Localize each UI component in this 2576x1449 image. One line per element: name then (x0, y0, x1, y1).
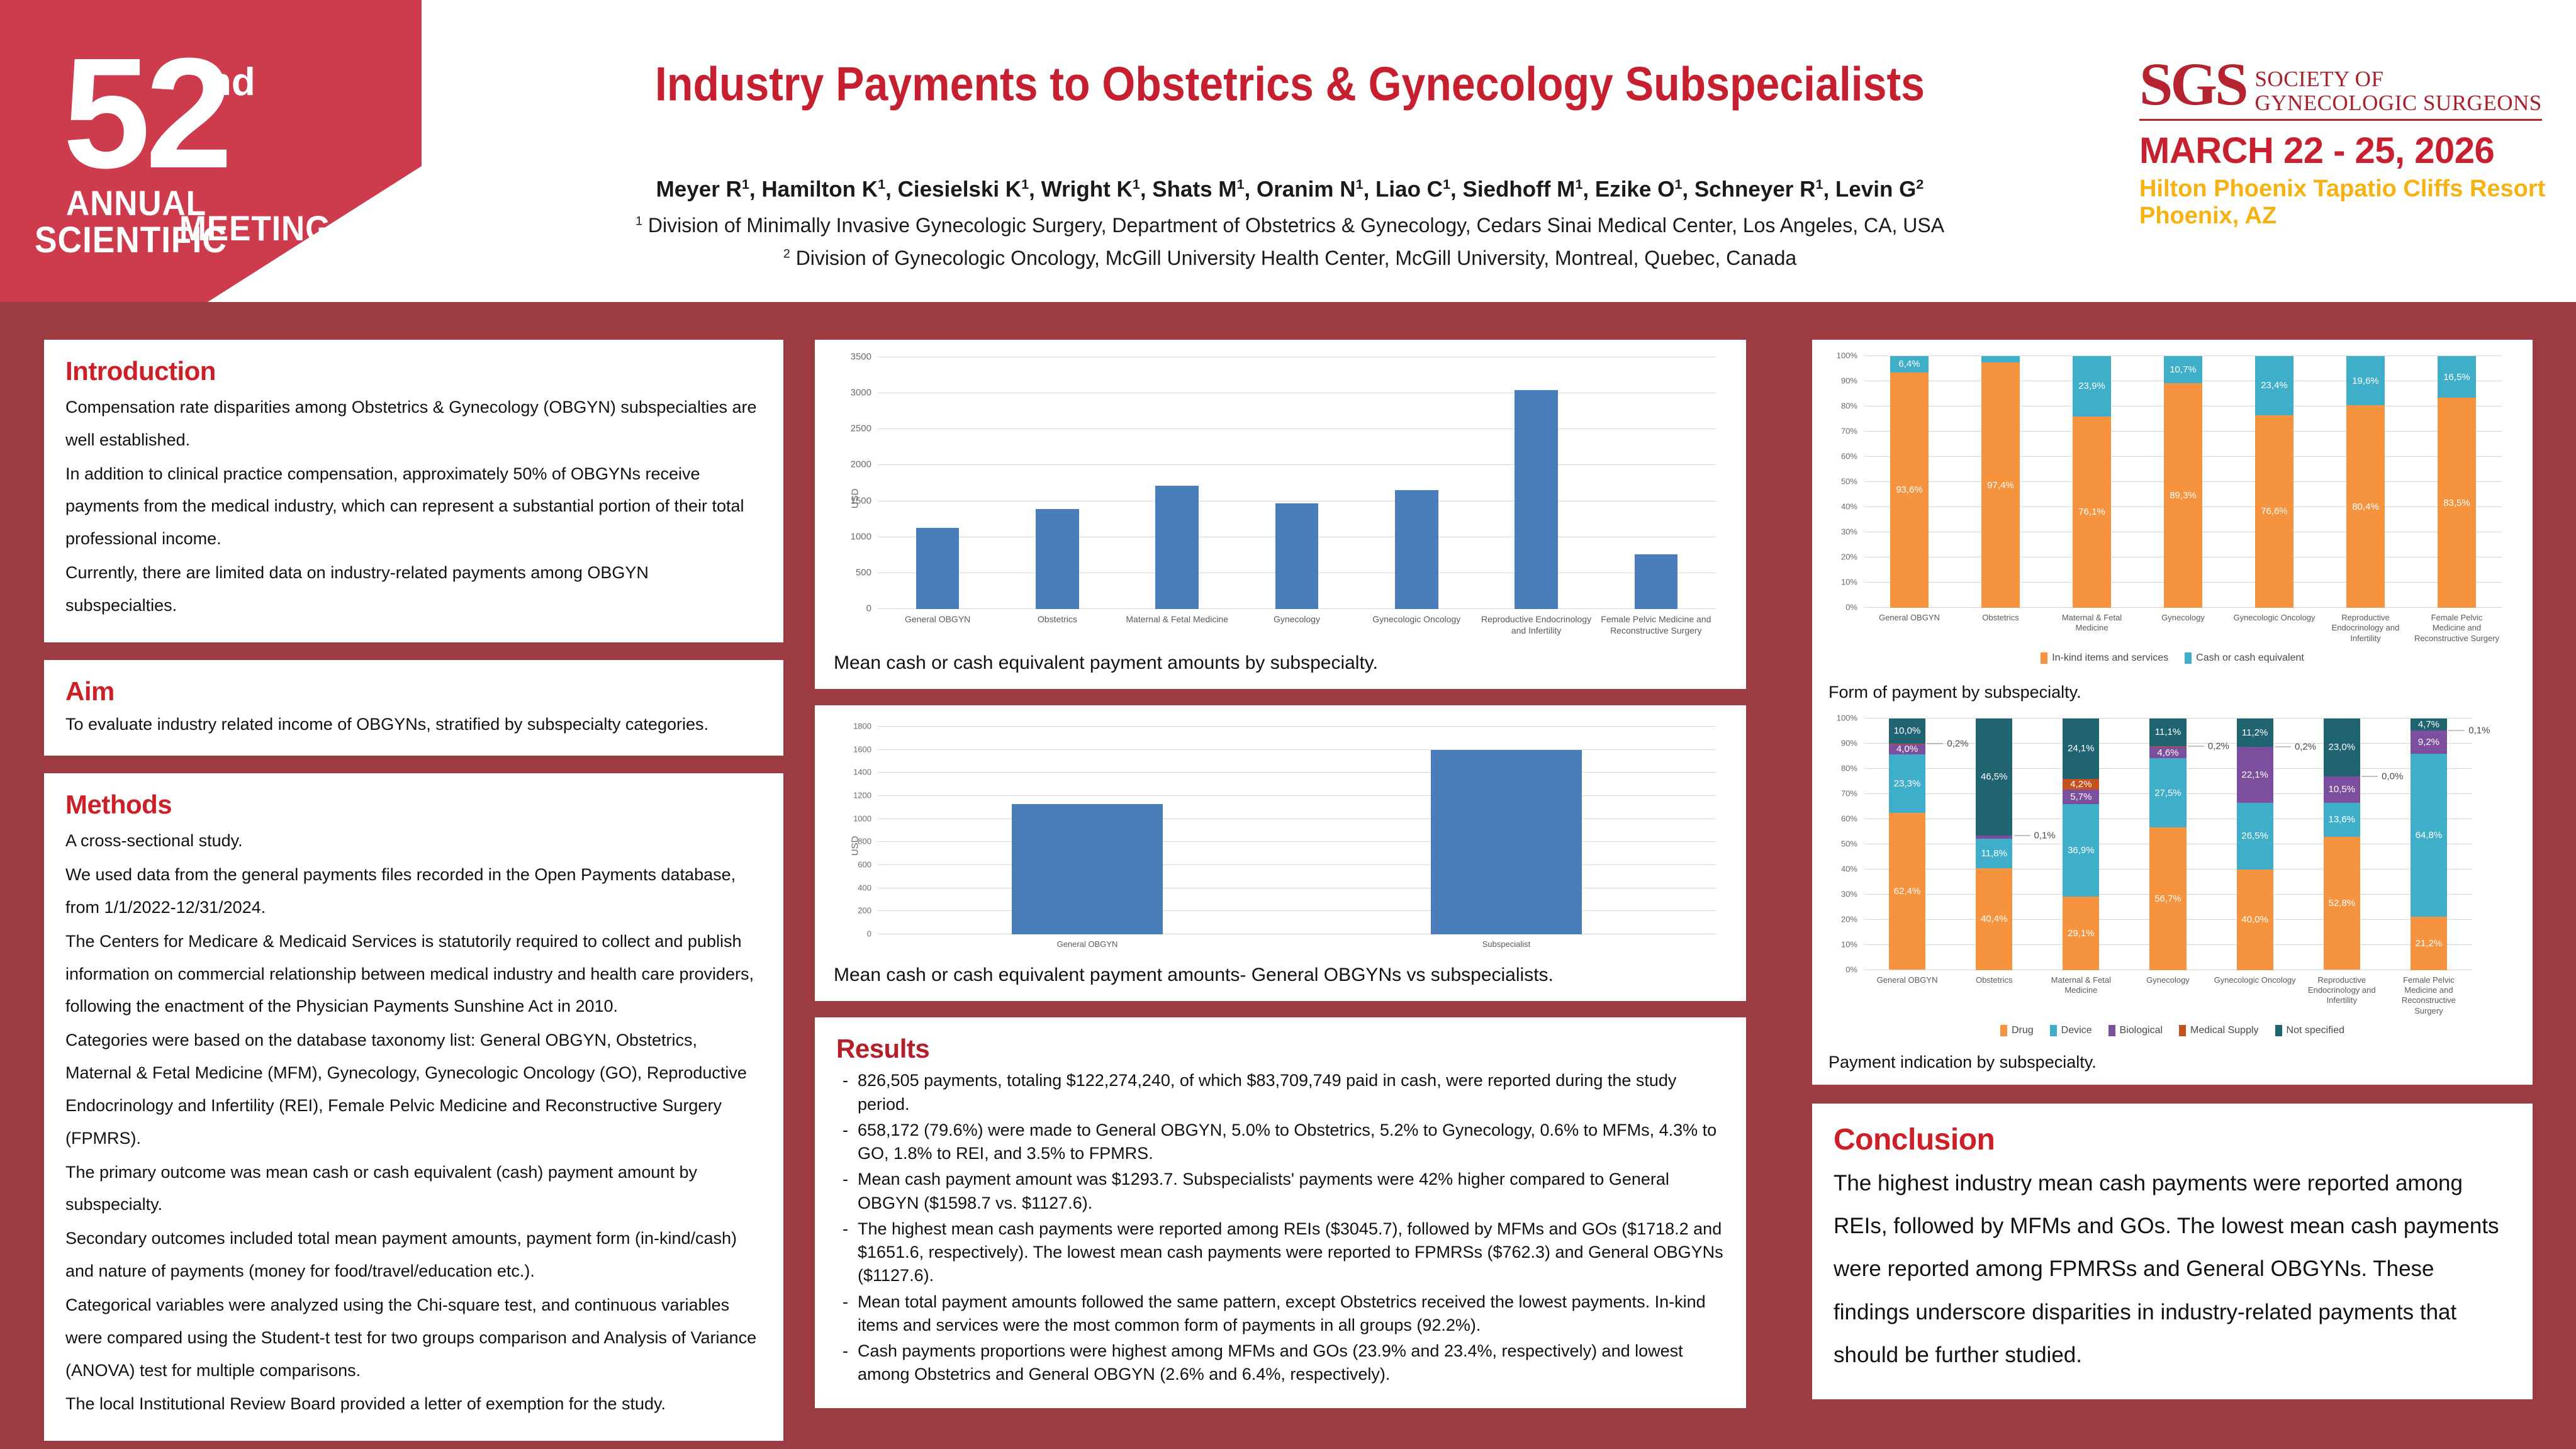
stacked-bar: 11,1%0,2%4,6%27,5%56,7% (2149, 719, 2186, 970)
x-axis-tick-label: General OBGYN (878, 614, 997, 636)
stack-segment: 23,0% (2324, 719, 2360, 776)
bar-slot (1476, 357, 1596, 609)
segment-value-label: 23,9% (2078, 381, 2105, 391)
segment-leader-label: 0,1% (2448, 725, 2490, 736)
chart3-caption: Form of payment by subspecialty. (1828, 683, 2516, 702)
segment-value-label: 26,5% (2241, 831, 2268, 841)
aim-body: To evaluate industry related income of O… (65, 712, 762, 737)
segment-value-label: 11,1% (2155, 727, 2181, 737)
x-axis-tick-label: Reproductive Endocrinology and Infertili… (1476, 614, 1596, 636)
x-axis-tick-label: General OBGYN (878, 939, 1297, 949)
stack-segment: 11,8% (1976, 839, 2012, 868)
chart3-plot-area: 0%10%20%30%40%50%60%70%80%90%100%6,4%93,… (1864, 356, 2502, 608)
chart3-card: 0%10%20%30%40%50%60%70%80%90%100%6,4%93,… (1812, 340, 2533, 1085)
stack-segment: 23,3% (1889, 754, 1925, 813)
bar-slot (997, 357, 1117, 609)
stacked-bar: 24,1%4,2%5,7%36,9%29,1% (2063, 719, 2099, 970)
introduction-body: Compensation rate disparities among Obst… (65, 391, 762, 622)
stack-segment: 27,5% (2149, 758, 2186, 827)
bar-slot (1297, 727, 1716, 934)
chart-mean-cash-general-vs-subspecialist: USD 020040060080010001200140016001800 Ge… (834, 727, 1727, 949)
x-axis-tick-label: Obstetrics (1951, 975, 2037, 1016)
results-bullet-list: 826,505 payments, totaling $122,274,240,… (836, 1069, 1725, 1386)
y-axis-tick: 80% (1841, 763, 1857, 773)
stack-slot: 11,2%0,2%22,1%26,5%40,0% (2212, 719, 2299, 970)
legend-item: Device (2050, 1025, 2092, 1036)
x-axis-tick-label: Female Pelvic Medicine and Reconstructiv… (2411, 613, 2502, 644)
affiliation-2: 2 Division of Gynecologic Oncology, McGi… (378, 247, 2202, 270)
y-axis-tick: 50% (1841, 477, 1857, 486)
middle-column: USD 0500100015002000250030003500 General… (815, 340, 1746, 1408)
stack-segment: 23,9% (2073, 356, 2111, 417)
stack-segment: 11,1% (2149, 719, 2186, 746)
x-axis-tick-label: Maternal & Fetal Medicine (2046, 613, 2137, 644)
chart1-card: USD 0500100015002000250030003500 General… (815, 340, 1746, 689)
y-axis-tick: 100% (1837, 351, 1857, 361)
stack-segment: 56,7% (2149, 827, 2186, 970)
stacked-bar: 10,0%0,2%4,0%23,3%62,4% (1889, 719, 1925, 970)
segment-value-label: 80,4% (2352, 501, 2379, 512)
bar-slot (1237, 357, 1357, 609)
segment-value-label: 29,1% (2068, 928, 2095, 939)
x-axis-tick-label: Female Pelvic Medicine and Reconstructiv… (1596, 614, 1716, 636)
segment-value-label: 23,4% (2261, 380, 2288, 391)
stack-segment: 16,5% (2438, 356, 2476, 398)
segment-value-label: 4,2% (2070, 779, 2092, 790)
x-axis-tick-label: Gynecologic Oncology (2229, 613, 2320, 644)
y-axis-tick: 30% (1841, 889, 1857, 898)
x-axis-tick-label: Gynecology (2137, 613, 2229, 644)
legend-item: Biological (2108, 1025, 2163, 1036)
stack-slot: 6,4%93,6% (1864, 356, 1955, 608)
methods-paragraph-3: The Centers for Medicare & Medicaid Serv… (65, 926, 762, 1023)
y-axis-tick: 70% (1841, 788, 1857, 798)
segment-value-label: 56,7% (2154, 893, 2181, 904)
affiliation-1: 1 Division of Minimally Invasive Gynecol… (378, 214, 2202, 237)
aim-card: Aim To evaluate industry related income … (44, 660, 783, 756)
y-axis-tick: 80% (1841, 401, 1857, 411)
chart2-x-axis-labels: General OBGYNSubspecialist (878, 939, 1716, 949)
segment-value-label: 13,6% (2329, 814, 2356, 825)
x-axis-tick-label: Obstetrics (997, 614, 1117, 636)
segment-value-label: 40,4% (1981, 914, 2008, 924)
stack-segment: 9,2% (2411, 730, 2447, 754)
stack-slot: 10,7%89,3% (2137, 356, 2229, 608)
bar-slot (878, 727, 1297, 934)
stack-segment: 52,8% (2324, 837, 2360, 970)
chart-payment-indication: 0%10%20%30%40%50%60%70%80%90%100%10,0%0,… (1828, 719, 2516, 1036)
y-axis-tick: 200 (858, 906, 871, 915)
aim-heading: Aim (65, 676, 762, 707)
bar-slot (1596, 357, 1716, 609)
poster-title: Industry Payments to Obstetrics & Gyneco… (440, 57, 2139, 111)
sgs-society-line2: GYNECOLOGIC SURGEONS (2254, 91, 2541, 115)
chart4-legend: DrugDeviceBiologicalMedical SupplyNot sp… (1828, 1025, 2516, 1036)
stack-slot: 23,9%76,1% (2046, 356, 2137, 608)
stack-segment: 23,4% (2255, 356, 2293, 415)
y-axis-tick: 0% (1845, 603, 1857, 612)
chart2-card: USD 020040060080010001200140016001800 Ge… (815, 705, 1746, 1001)
bar (1155, 486, 1199, 609)
x-axis-tick-label: Reproductive Endocrinology and Infertili… (2299, 975, 2385, 1016)
segment-value-label: 89,3% (2170, 490, 2197, 501)
logo-meeting-ordinal: nd (208, 60, 255, 104)
stack-segment: 5,7% (2063, 790, 2099, 804)
x-axis-tick-label: Maternal & Fetal Medicine (1117, 614, 1237, 636)
stack-segment: 29,1% (2063, 897, 2099, 970)
sgs-society-name: SOCIETY OF GYNECOLOGIC SURGEONS (2254, 60, 2541, 115)
conclusion-heading: Conclusion (1834, 1122, 2511, 1157)
y-axis-tick: 400 (858, 883, 871, 892)
segment-value-label: 76,6% (2261, 506, 2288, 517)
y-axis-tick: 0% (1845, 965, 1857, 974)
stack-segment: 4,7% (2411, 719, 2447, 730)
chart1-x-axis-labels: General OBGYNObstetricsMaternal & Fetal … (878, 614, 1716, 636)
legend-label: Not specified (2287, 1025, 2345, 1036)
y-axis-tick: 0 (867, 929, 871, 939)
x-axis-tick-label: Obstetrics (1955, 613, 2046, 644)
bar-series (878, 357, 1716, 609)
segment-value-label: 40,0% (2241, 914, 2268, 925)
bar (1012, 804, 1163, 934)
bar (1635, 554, 1678, 609)
segment-value-label: 93,6% (1896, 484, 1923, 495)
stack-slot: 97,4% (1955, 356, 2046, 608)
y-axis-tick: 3000 (851, 388, 871, 398)
stack-segment: 89,3% (2164, 383, 2202, 608)
y-axis-tick: 30% (1841, 527, 1857, 537)
stacked-bar: 6,4%93,6% (1890, 356, 1929, 608)
methods-heading: Methods (65, 790, 762, 820)
x-axis-tick-label: General OBGYN (1864, 975, 1951, 1016)
segment-value-label: 4,6% (2157, 747, 2178, 758)
right-column: 0%10%20%30%40%50%60%70%80%90%100%6,4%93,… (1812, 340, 2533, 1399)
stack-slot: 4,7%0,1%9,2%64,8%21,2% (2385, 719, 2472, 970)
stack-segment: 76,1% (2073, 417, 2111, 608)
legend-swatch (2041, 652, 2047, 664)
stacked-bar: 97,4% (1981, 356, 2020, 608)
results-heading: Results (836, 1034, 1725, 1064)
y-axis-tick: 20% (1841, 914, 1857, 924)
y-axis-tick: 1800 (853, 722, 871, 731)
stack-slot: 10,0%0,2%4,0%23,3%62,4% (1864, 719, 1951, 970)
stack-segment: 64,8% (2411, 754, 2447, 917)
x-axis-tick-label: Gynecology (1237, 614, 1357, 636)
legend-label: Drug (2012, 1025, 2034, 1036)
chart3-legend: In-kind items and servicesCash or cash e… (1828, 652, 2516, 664)
logo-scientific-text: SCIENTIFIC (35, 219, 227, 261)
bar (1036, 509, 1079, 609)
segment-value-label: 64,8% (2416, 830, 2443, 841)
stack-segment: 22,1% (2237, 747, 2273, 802)
poster-header: 52 nd ANNUAL MEETING SCIENTIFIC Industry… (0, 0, 2576, 302)
segment-value-label: 5,7% (2070, 792, 2092, 802)
legend-swatch (2275, 1025, 2282, 1036)
y-axis-tick: 1500 (851, 495, 871, 506)
y-axis-tick: 60% (1841, 452, 1857, 461)
stacked-bar: 19,6%80,4% (2346, 356, 2385, 608)
stack-segment (1981, 356, 2020, 362)
stack-segment: 10,0% (1889, 719, 1925, 744)
x-axis-tick-label: Gynecologic Oncology (2212, 975, 2299, 1016)
legend-label: In-kind items and services (2052, 652, 2168, 664)
stacked-bar: 46,5%0,1%11,8%40,4% (1976, 719, 2012, 970)
y-axis-tick: 1000 (853, 814, 871, 823)
segment-value-label: 23,3% (1894, 778, 1921, 789)
y-axis-tick: 2500 (851, 423, 871, 434)
stack-slot: 46,5%0,1%11,8%40,4% (1951, 719, 2037, 970)
legend-item: In-kind items and services (2041, 652, 2168, 664)
y-axis-tick: 90% (1841, 738, 1857, 747)
segment-value-label: 21,2% (2416, 938, 2443, 949)
legend-swatch (2179, 1025, 2186, 1036)
y-axis-tick: 1200 (853, 791, 871, 800)
segment-value-label: 22,1% (2241, 769, 2268, 780)
venue-line-1: Hilton Phoenix Tapatio Cliffs Resort (2139, 176, 2555, 203)
segment-value-label: 83,5% (2443, 498, 2470, 508)
introduction-paragraph-3: Currently, there are limited data on ind… (65, 557, 762, 622)
results-bullet-3: Mean cash payment amount was $1293.7. Su… (836, 1168, 1725, 1215)
legend-swatch (2000, 1025, 2007, 1036)
logo-meeting-number: 52 (63, 35, 228, 192)
stacked-bar: 23,0%0,0%10,5%13,6%52,8% (2324, 719, 2360, 970)
y-axis-tick: 1400 (853, 768, 871, 777)
stack-segment: 24,1% (2063, 719, 2099, 779)
introduction-paragraph-1: Compensation rate disparities among Obst… (65, 391, 762, 457)
bar (1515, 390, 1558, 609)
bar (1275, 503, 1319, 609)
segment-value-label: 11,8% (1981, 848, 2007, 859)
y-axis-tick: 1000 (851, 531, 871, 542)
stacked-bar: 4,7%0,1%9,2%64,8%21,2% (2411, 719, 2447, 970)
y-axis-tick: 70% (1841, 427, 1857, 436)
stack-slot: 19,6%80,4% (2320, 356, 2411, 608)
stack-segment: 10,7% (2164, 356, 2202, 383)
legend-swatch (2050, 1025, 2057, 1036)
methods-paragraph-1: A cross-sectional study. (65, 825, 762, 858)
segment-value-label: 10,0% (1894, 725, 1921, 736)
methods-paragraph-8: The local Institutional Review Board pro… (65, 1388, 762, 1421)
stacked-bar-series: 6,4%93,6%97,4%23,9%76,1%10,7%89,3%23,4%7… (1864, 356, 2502, 608)
bar-slot (878, 357, 997, 609)
legend-label: Medical Supply (2190, 1025, 2259, 1036)
stack-segment: 19,6% (2346, 356, 2385, 405)
y-axis-tick: 800 (858, 837, 871, 846)
results-bullet-5: Mean total payment amounts followed the … (836, 1290, 1725, 1338)
y-axis-tick: 10% (1841, 578, 1857, 587)
chart-form-of-payment: 0%10%20%30%40%50%60%70%80%90%100%6,4%93,… (1828, 356, 2516, 664)
chart1-plot-area: USD 0500100015002000250030003500 (878, 357, 1716, 609)
segment-value-label: 9,2% (2418, 737, 2439, 747)
stack-segment: 93,6% (1890, 372, 1929, 608)
stacked-bar-series: 10,0%0,2%4,0%23,3%62,4%46,5%0,1%11,8%40,… (1864, 719, 2472, 970)
bar (916, 528, 960, 609)
stack-segment: 36,9% (2063, 804, 2099, 897)
y-axis-tick: 2000 (851, 459, 871, 470)
methods-paragraph-2: We used data from the general payments f… (65, 859, 762, 924)
stacked-bar: 16,5%83,5% (2438, 356, 2476, 608)
stacked-bar: 23,4%76,6% (2255, 356, 2293, 608)
conference-logo-badge: 52 nd ANNUAL MEETING SCIENTIFIC (0, 0, 422, 302)
stack-segment: 4,0% (1889, 744, 1925, 754)
results-bullet-4: The highest mean cash payments were repo… (836, 1217, 1725, 1288)
methods-paragraph-6: Secondary outcomes included total mean p… (65, 1222, 762, 1288)
methods-paragraph-4: Categories were based on the database ta… (65, 1024, 762, 1155)
legend-item: Cash or cash equivalent (2185, 652, 2304, 664)
y-axis-tick: 90% (1841, 376, 1857, 386)
y-axis-tick: 60% (1841, 814, 1857, 823)
segment-value-label: 4,7% (2418, 719, 2439, 730)
stack-segment: 11,2% (2237, 719, 2273, 747)
x-axis-tick-label: Reproductive Endocrinology and Infertili… (2320, 613, 2411, 644)
sgs-society-line1: SOCIETY OF (2254, 67, 2541, 91)
results-card: Results 826,505 payments, totaling $122,… (815, 1017, 1746, 1407)
stack-segment: 4,2% (2063, 779, 2099, 790)
x-axis-tick-label: Maternal & Fetal Medicine (2037, 975, 2124, 1016)
stack-segment: 4,6% (2149, 747, 2186, 758)
conclusion-body: The highest industry mean cash payments … (1834, 1162, 2511, 1377)
segment-value-label: 23,0% (2329, 742, 2356, 752)
stack-slot: 23,0%0,0%10,5%13,6%52,8% (2299, 719, 2385, 970)
methods-paragraph-7: Categorical variables were analyzed usin… (65, 1289, 762, 1387)
chart2-caption: Mean cash or cash equivalent payment amo… (834, 965, 1727, 986)
sgs-divider (2139, 119, 2542, 121)
methods-body: A cross-sectional study. We used data fr… (65, 825, 762, 1421)
segment-value-label: 36,9% (2068, 845, 2095, 856)
stack-segment: 40,0% (2237, 870, 2273, 970)
x-axis-tick-label: Gynecologic Oncology (1357, 614, 1476, 636)
conference-dates: MARCH 22 - 25, 2026 (2139, 130, 2555, 172)
legend-item: Medical Supply (2179, 1025, 2259, 1036)
introduction-paragraph-2: In addition to clinical practice compens… (65, 458, 762, 556)
bar (1395, 490, 1438, 609)
chart3-x-axis-labels: General OBGYNObstetricsMaternal & Fetal … (1864, 613, 2502, 644)
venue-line-2: Phoenix, AZ (2139, 203, 2555, 230)
sgs-logo-block: SGS SOCIETY OF GYNECOLOGIC SURGEONS MARC… (2139, 60, 2555, 230)
segment-value-label: 24,1% (2068, 743, 2095, 754)
results-bullet-2: 658,172 (79.6%) were made to General OBG… (836, 1119, 1725, 1166)
bar-slot (1117, 357, 1237, 609)
legend-item: Not specified (2275, 1025, 2345, 1036)
conference-venue: Hilton Phoenix Tapatio Cliffs Resort Pho… (2139, 176, 2555, 230)
results-bullet-6: Cash payments proportions were highest a… (836, 1340, 1725, 1387)
y-axis-tick: 0 (866, 603, 871, 614)
chart4-x-axis-labels: General OBGYNObstetricsMaternal & Fetal … (1864, 975, 2472, 1016)
stack-segment: 76,6% (2255, 415, 2293, 608)
stack-slot: 11,1%0,2%4,6%27,5%56,7% (2124, 719, 2211, 970)
chart-mean-cash-by-subspecialty: USD 0500100015002000250030003500 General… (834, 357, 1727, 636)
stack-slot: 24,1%4,2%5,7%36,9%29,1% (2037, 719, 2124, 970)
segment-value-label: 19,6% (2352, 376, 2379, 386)
segment-value-label: 10,7% (2170, 364, 2197, 375)
stack-segment: 62,4% (1889, 813, 1925, 970)
x-axis-tick-label: Subspecialist (1297, 939, 1716, 949)
stack-slot: 16,5%83,5% (2411, 356, 2502, 608)
legend-label: Cash or cash equivalent (2196, 652, 2304, 664)
x-axis-tick-label: Gynecology (2124, 975, 2211, 1016)
y-axis-tick: 500 (856, 567, 871, 578)
stack-segment: 83,5% (2438, 398, 2476, 608)
stack-segment: 40,4% (1976, 868, 2012, 970)
y-axis-tick: 40% (1841, 864, 1857, 873)
methods-paragraph-5: The primary outcome was mean cash or cas… (65, 1156, 762, 1222)
x-axis-tick-label: Female Pelvic Medicine and Reconstructiv… (2385, 975, 2472, 1016)
y-axis-tick: 50% (1841, 839, 1857, 848)
introduction-card: Introduction Compensation rate dispariti… (44, 340, 783, 642)
y-axis-tick: 600 (858, 860, 871, 870)
segment-value-label: 52,8% (2329, 898, 2356, 909)
stack-segment: 97,4% (1981, 362, 2020, 608)
segment-value-label: 6,4% (1898, 359, 1920, 369)
legend-swatch (2108, 1025, 2115, 1036)
y-axis-tick: 3500 (851, 352, 871, 362)
chart4-caption: Payment indication by subspecialty. (1828, 1053, 2516, 1072)
bar-series (878, 727, 1716, 934)
y-axis-tick: 10% (1841, 939, 1857, 949)
legend-label: Biological (2120, 1025, 2163, 1036)
y-axis-tick: 40% (1841, 502, 1857, 512)
segment-value-label: 16,5% (2443, 372, 2470, 383)
chart1-caption: Mean cash or cash equivalent payment amo… (834, 652, 1727, 674)
stack-segment: 80,4% (2346, 405, 2385, 608)
sgs-wordmark: SGS (2139, 60, 2246, 109)
stack-slot: 23,4%76,6% (2229, 356, 2320, 608)
segment-value-label: 27,5% (2154, 788, 2181, 798)
stack-segment: 6,4% (1890, 356, 1929, 372)
stacked-bar: 10,7%89,3% (2164, 356, 2202, 608)
x-axis-tick-label: General OBGYN (1864, 613, 1955, 644)
segment-value-label: 46,5% (1981, 771, 2008, 782)
bar-slot (1357, 357, 1476, 609)
y-axis-tick: 100% (1837, 713, 1857, 722)
legend-item: Drug (2000, 1025, 2034, 1036)
stacked-bar: 11,2%0,2%22,1%26,5%40,0% (2237, 719, 2273, 970)
left-column: Introduction Compensation rate dispariti… (44, 340, 783, 1441)
stack-segment: 46,5% (1976, 719, 2012, 836)
stack-segment: 21,2% (2411, 917, 2447, 970)
bar (1431, 750, 1582, 934)
results-bullet-1: 826,505 payments, totaling $122,274,240,… (836, 1069, 1725, 1116)
poster-root: 52 nd ANNUAL MEETING SCIENTIFIC Industry… (0, 0, 2576, 1449)
segment-value-label: 97,4% (1987, 480, 2014, 491)
author-list: Meyer R1, Hamilton K1, Ciesielski K1, Wr… (440, 176, 2139, 203)
stack-segment: 26,5% (2237, 803, 2273, 870)
legend-label: Device (2061, 1025, 2092, 1036)
chart2-plot-area: USD 020040060080010001200140016001800 (878, 727, 1716, 934)
legend-swatch (2185, 652, 2192, 664)
stack-segment: 10,5% (2324, 776, 2360, 803)
y-axis-tick: 20% (1841, 552, 1857, 562)
segment-value-label: 62,4% (1894, 886, 1921, 897)
segment-value-label: 11,2% (2242, 727, 2268, 738)
segment-value-label: 76,1% (2078, 506, 2105, 517)
methods-card: Methods A cross-sectional study. We used… (44, 773, 783, 1441)
stacked-bar: 23,9%76,1% (2073, 356, 2111, 608)
y-axis-tick: 1600 (853, 744, 871, 754)
segment-value-label: 4,0% (1896, 744, 1918, 754)
introduction-heading: Introduction (65, 356, 762, 386)
conclusion-card: Conclusion The highest industry mean cas… (1812, 1104, 2533, 1399)
chart4-plot-area: 0%10%20%30%40%50%60%70%80%90%100%10,0%0,… (1864, 719, 2472, 970)
stack-segment: 13,6% (2324, 803, 2360, 837)
segment-value-label: 10,5% (2329, 784, 2356, 795)
